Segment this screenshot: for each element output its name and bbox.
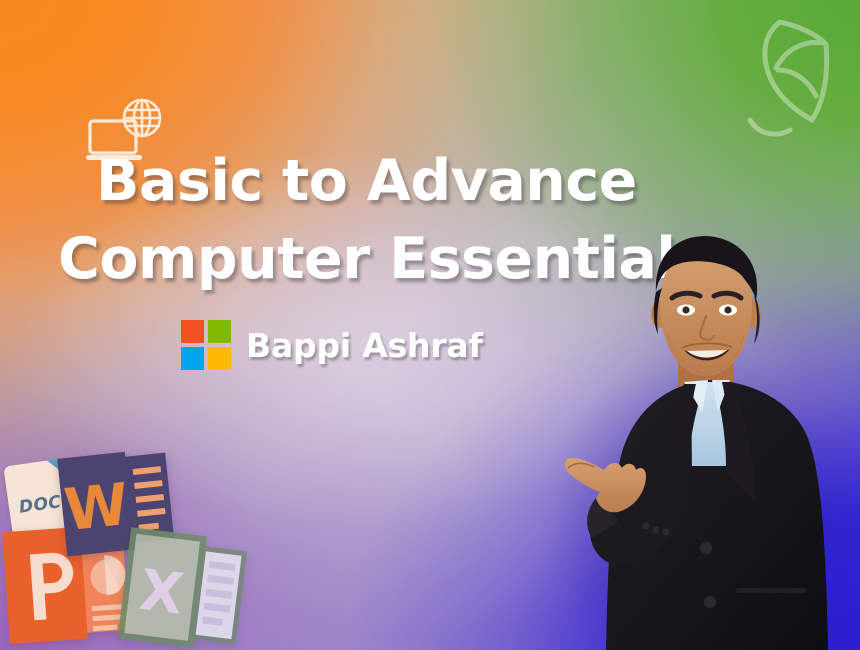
- doc-file-label: DOC: [18, 492, 63, 518]
- microsoft-square-red: [181, 320, 204, 343]
- office-icon-cluster: DOC W: [0, 450, 260, 650]
- svg-text:W: W: [61, 470, 132, 544]
- slide-canvas: Basic to Advance Computer Essential Bapp…: [0, 0, 860, 650]
- excel-icon: X: [118, 527, 251, 650]
- microsoft-square-green: [208, 320, 231, 343]
- headline-line-1: Basic to Advance: [58, 142, 658, 220]
- microsoft-logo: [181, 320, 231, 370]
- microsoft-square-yellow: [208, 347, 231, 370]
- presenter-name-row: Bappi Ashraf: [181, 320, 483, 370]
- microsoft-square-blue: [181, 347, 204, 370]
- presenter-photo: [560, 230, 860, 650]
- leaf-brand-logo: [742, 8, 846, 138]
- presenter-name: Bappi Ashraf: [246, 326, 483, 365]
- svg-text:X: X: [136, 558, 187, 628]
